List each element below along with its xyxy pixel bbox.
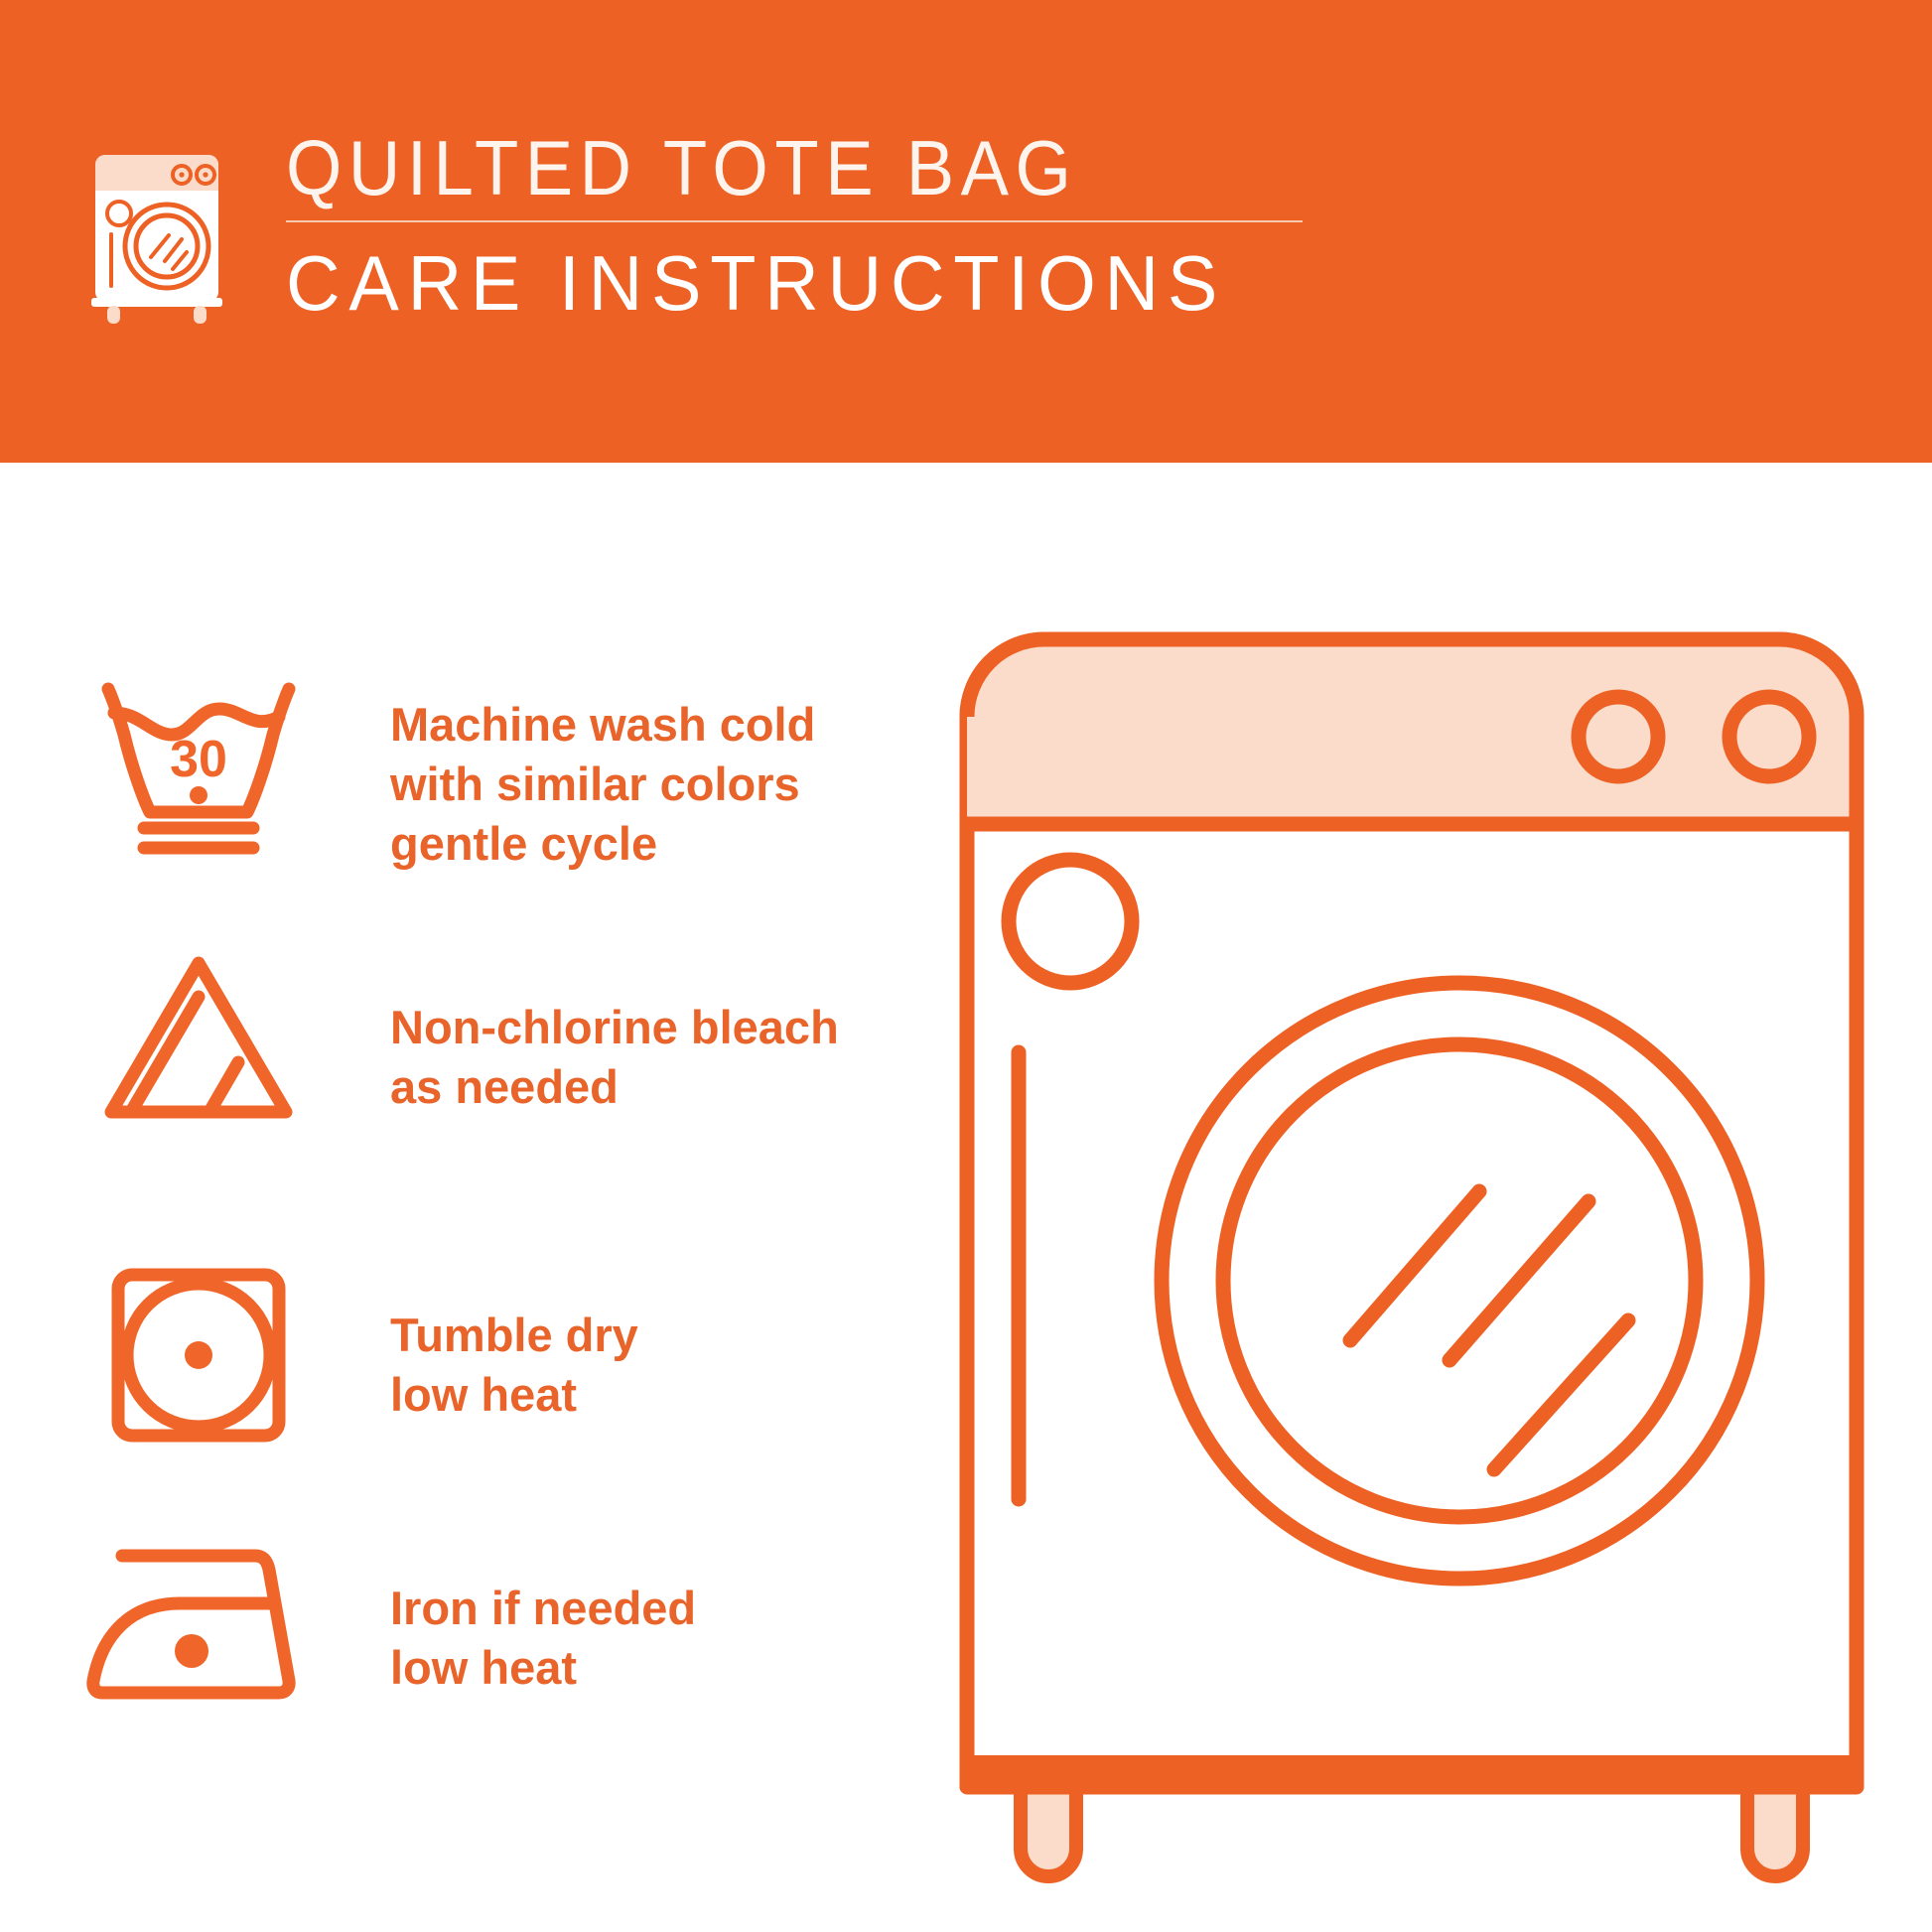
title-divider — [286, 220, 1303, 222]
care-text-machine-wash: Machine wash cold with similar colors ge… — [390, 695, 906, 874]
care-text-tumble-dry: Tumble dry low heat — [390, 1306, 847, 1425]
wash-tub-30-icon: 30 — [94, 673, 303, 867]
header-band: QUILTED TOTE BAG CARE INSTRUCTIONS — [0, 0, 1932, 463]
iron-low-heat-icon — [84, 1534, 298, 1718]
page-subtitle: CARE INSTRUCTIONS — [286, 244, 1288, 322]
svg-text:30: 30 — [170, 731, 227, 788]
washing-machine-illustration — [953, 625, 1866, 1906]
washing-machine-icon — [81, 135, 232, 324]
page-title: QUILTED TOTE BAG — [286, 129, 1246, 207]
header-text-block: QUILTED TOTE BAG CARE INSTRUCTIONS — [286, 129, 1318, 322]
non-chlorine-bleach-triangle-icon — [99, 951, 298, 1130]
care-text-iron: Iron if needed low heat — [390, 1579, 847, 1698]
tumble-dry-low-icon — [109, 1266, 288, 1449]
care-text-bleach: Non-chlorine bleach as needed — [390, 998, 926, 1117]
